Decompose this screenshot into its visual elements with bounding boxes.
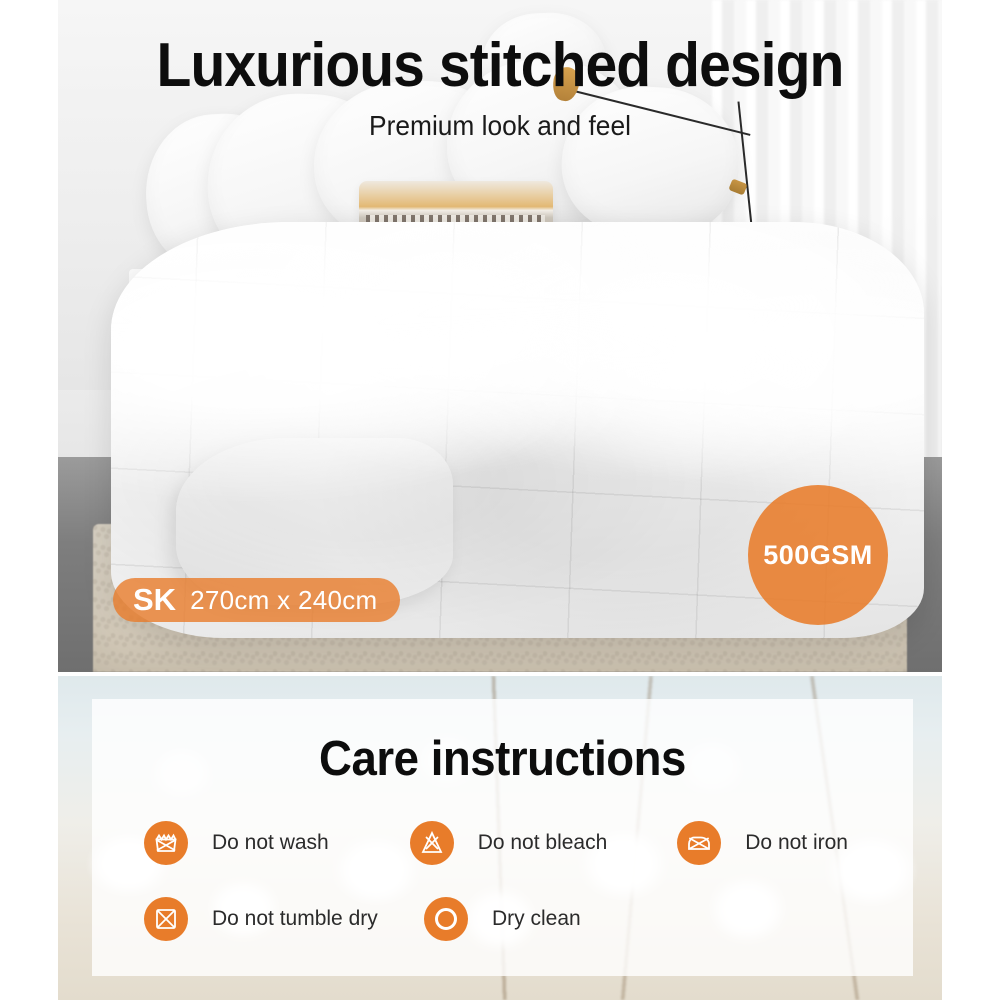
do-not-iron-icon (677, 821, 721, 865)
gsm-badge: 500GSM (748, 485, 888, 625)
do-not-tumble-dry-icon (144, 897, 188, 941)
do-not-bleach-icon (410, 821, 454, 865)
gsm-label: 500GSM (763, 540, 873, 571)
care-row: Do not tumble dry Dry clean (144, 897, 905, 941)
care-grid: Do not wash Do not bleach (144, 821, 905, 973)
do-not-wash-icon (144, 821, 188, 865)
product-infographic: Luxurious stitched design Premium look a… (0, 0, 1000, 1000)
care-title: Care instructions (121, 731, 885, 787)
care-item-do-not-tumble-dry: Do not tumble dry (144, 897, 424, 941)
care-item-do-not-iron: Do not iron (677, 821, 905, 865)
page-subtitle: Premium look and feel (85, 110, 916, 142)
care-item-do-not-bleach: Do not bleach (410, 821, 678, 865)
care-label: Do not iron (745, 831, 848, 855)
care-panel: Care instructions Do not wash (92, 699, 913, 976)
page-title: Luxurious stitched design (93, 34, 906, 97)
care-label: Do not wash (212, 831, 329, 855)
care-label: Do not bleach (478, 831, 608, 855)
size-badge: SK 270cm x 240cm (113, 578, 400, 622)
dry-clean-icon (424, 897, 468, 941)
care-item-do-not-wash: Do not wash (144, 821, 410, 865)
care-label: Dry clean (492, 907, 581, 931)
care-instructions-section: Care instructions Do not wash (58, 676, 942, 1000)
size-code: SK (113, 582, 190, 618)
size-dimensions: 270cm x 240cm (190, 585, 377, 616)
care-row: Do not wash Do not bleach (144, 821, 905, 865)
care-label: Do not tumble dry (212, 907, 378, 931)
care-item-dry-clean: Dry clean (424, 897, 706, 941)
